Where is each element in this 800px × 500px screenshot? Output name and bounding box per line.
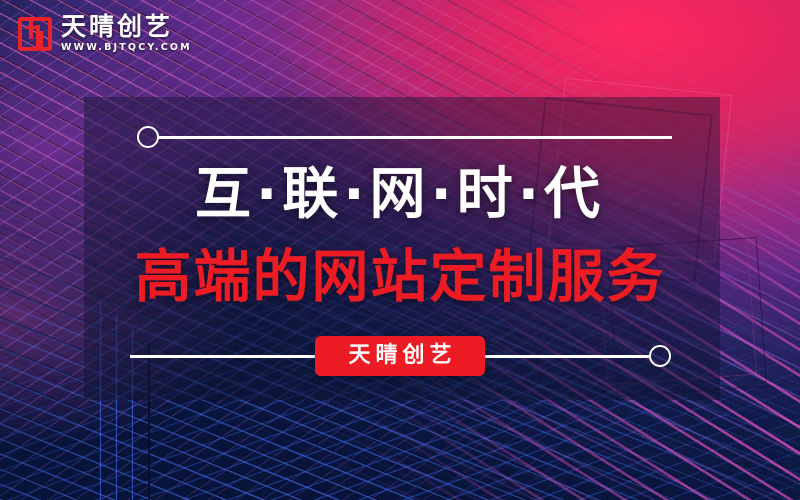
horizontal-rule-top [158,136,672,139]
logo-text-block: 天晴创艺 WWW.BJTQCY.COM [61,14,192,53]
headline-secondary: 高端的网站定制服务 [0,248,800,308]
circle-outline-left [137,126,159,148]
brand-logo[interactable]: 天晴创艺 WWW.BJTQCY.COM [18,14,192,53]
logo-mark-icon [18,17,52,51]
circle-outline-right [649,345,671,367]
brand-badge[interactable]: 天晴创艺 [315,336,485,376]
brand-badge-label: 天晴创艺 [343,345,456,367]
headline-primary: 互·联·网·时·代 [0,166,800,225]
promo-banner: 天晴创艺 WWW.BJTQCY.COM 互·联·网·时·代 高端的网站定制服务 … [0,0,800,500]
logo-company-name: 天晴创艺 [61,14,192,40]
logo-website-url: WWW.BJTQCY.COM [61,42,192,53]
